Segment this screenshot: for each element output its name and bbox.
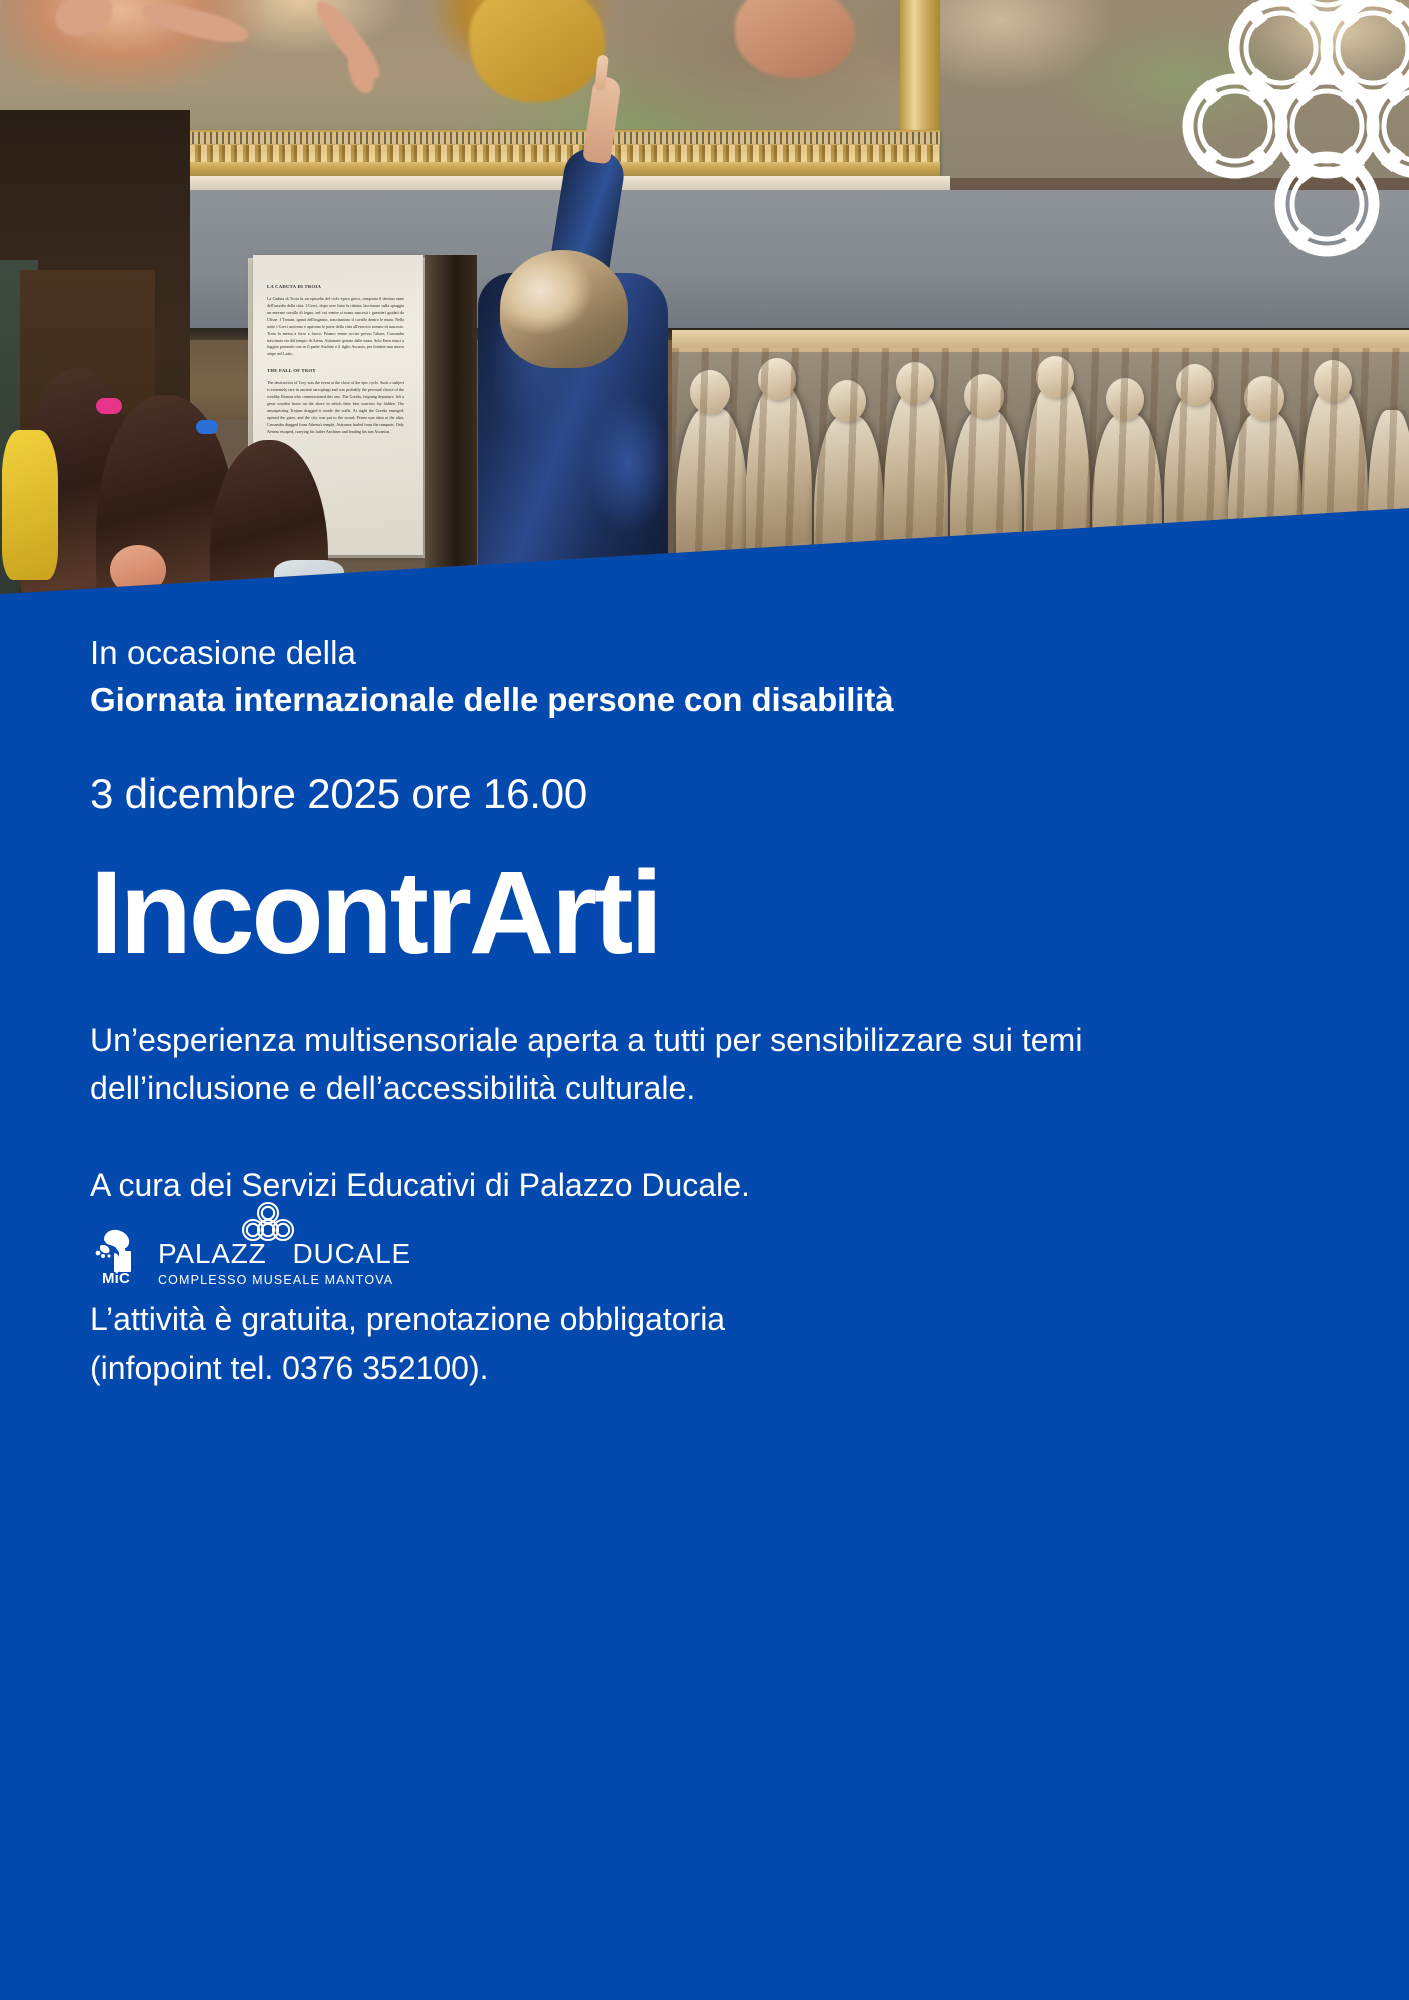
- logo-rings-icon: [237, 1200, 299, 1262]
- wall-label-title-it: LA CADUTA DI TROIA: [267, 283, 404, 291]
- mic-logo: MiC: [90, 1226, 142, 1287]
- eyebrow-line-2: Giornata internazionale delle persone co…: [90, 677, 1319, 724]
- wall-label-body-it: La Caduta di Troia fu un episodio del ci…: [267, 296, 404, 359]
- museum-educator: [468, 155, 673, 605]
- hair-clip: [96, 398, 122, 414]
- child-face: [110, 545, 166, 595]
- poster: LA CADUTA DI TROIA La Caduta di Troia fu…: [0, 0, 1409, 2000]
- booking-line-1: L’attività è gratuita, prenotazione obbl…: [90, 1295, 1319, 1345]
- event-datetime: 3 dicembre 2025 ore 16.00: [90, 770, 1319, 818]
- palazzo-ducale-logo: PALAZZDUCALE COMPLESSO MUSEALE MANTOVA: [158, 1214, 411, 1287]
- grey-wall-band: [0, 190, 1409, 335]
- hero-photo: LA CADUTA DI TROIA La Caduta di Troia fu…: [0, 0, 1409, 660]
- institution-name-part2: DUCALE: [293, 1238, 411, 1269]
- eyebrow-line-1: In occasione della: [90, 630, 1319, 677]
- blonde-hair: [500, 250, 628, 368]
- wall-label-body-en: The destruction of Troy was the event at…: [267, 380, 404, 436]
- poster-content: In occasione della Giornata internaziona…: [0, 594, 1409, 2000]
- statue-bust-icon: [90, 1226, 142, 1272]
- hair-clip: [196, 420, 218, 434]
- wall-label-title-en: THE FALL OF TROY: [267, 367, 404, 375]
- child-yellow-coat: [2, 430, 58, 580]
- booking-line-2: (infopoint tel. 0376 352100).: [90, 1344, 1319, 1394]
- booking-info: L’attività è gratuita, prenotazione obbl…: [90, 1295, 1319, 1394]
- page-title: IncontrArti: [90, 852, 1319, 976]
- event-description: Un’esperienza multisensoriale aperta a t…: [90, 1016, 1220, 1113]
- institution-subtitle: COMPLESSO MUSEALE MANTOVA: [158, 1274, 411, 1287]
- mic-label: MiC: [102, 1270, 130, 1287]
- logo-lockup: MiC PALAZZDUCALE COMPLESSO MUSEALE MANTO…: [90, 1214, 411, 1287]
- fresco-right-panel: [940, 0, 1409, 178]
